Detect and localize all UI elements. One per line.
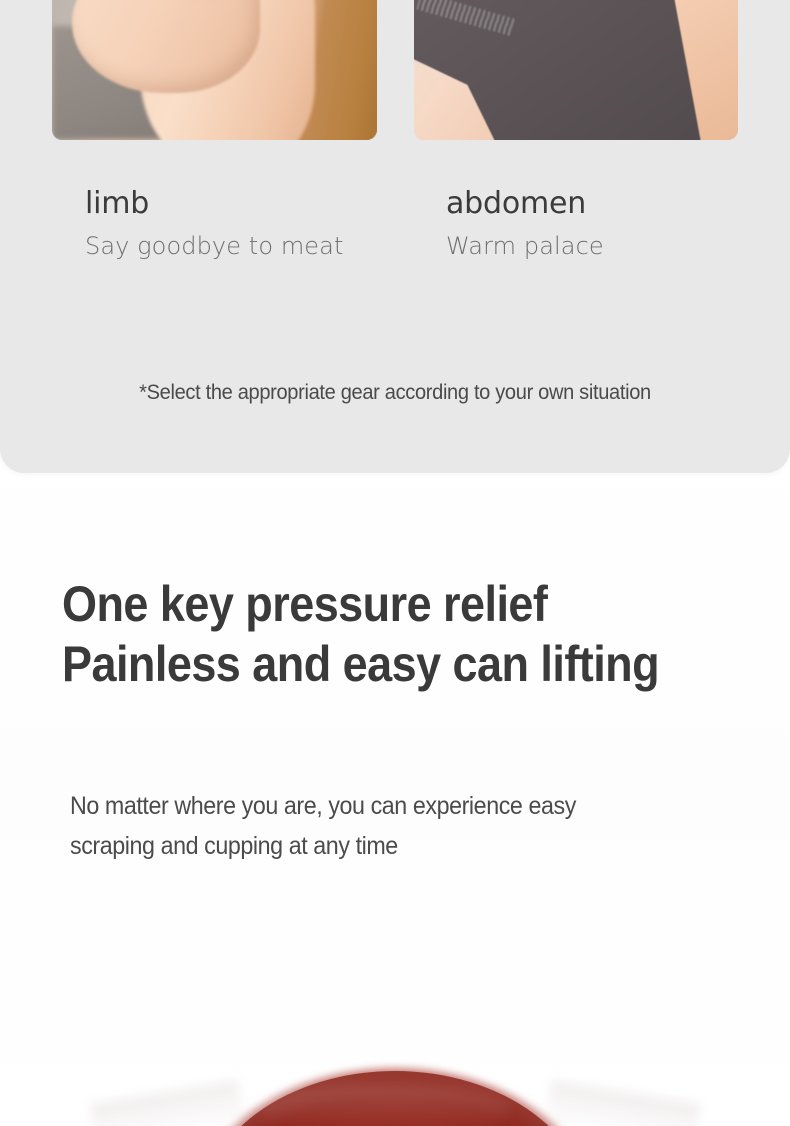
product-backdrop-left [89, 1081, 244, 1126]
body-line-1: No matter where you are, you can experie… [70, 786, 702, 826]
headline-line-1: One key pressure relief [62, 574, 692, 634]
product-detail-page: limb Say goodbye to meat abdomen Warm pa… [0, 0, 790, 1126]
limb-caption-group: limb Say goodbye to meat [85, 188, 344, 259]
gear-selection-note: *Select the appropriate gear according t… [18, 381, 772, 405]
usage-captions: limb Say goodbye to meat abdomen Warm pa… [0, 188, 790, 288]
body-line-2: scraping and cupping at any time [70, 826, 702, 866]
abdomen-usage-photo [414, 0, 738, 140]
product-hero-image [0, 960, 790, 1126]
feature-body-copy: No matter where you are, you can experie… [70, 786, 750, 866]
limb-photo-content [52, 0, 377, 140]
product-backdrop-right [545, 1081, 700, 1126]
abdomen-caption-group: abdomen Warm palace [446, 188, 604, 259]
abdomen-caption-title: abdomen [446, 188, 604, 220]
limb-usage-photo [52, 0, 377, 140]
feature-headline: One key pressure relief Painless and eas… [62, 574, 762, 694]
abdomen-caption-subtitle: Warm palace [446, 233, 604, 259]
limb-caption-subtitle: Say goodbye to meat [85, 233, 344, 259]
limb-caption-title: limb [85, 188, 344, 220]
usage-photo-row [0, 0, 790, 140]
abdomen-photo-content [414, 0, 738, 140]
headline-line-2: Painless and easy can lifting [62, 634, 692, 694]
